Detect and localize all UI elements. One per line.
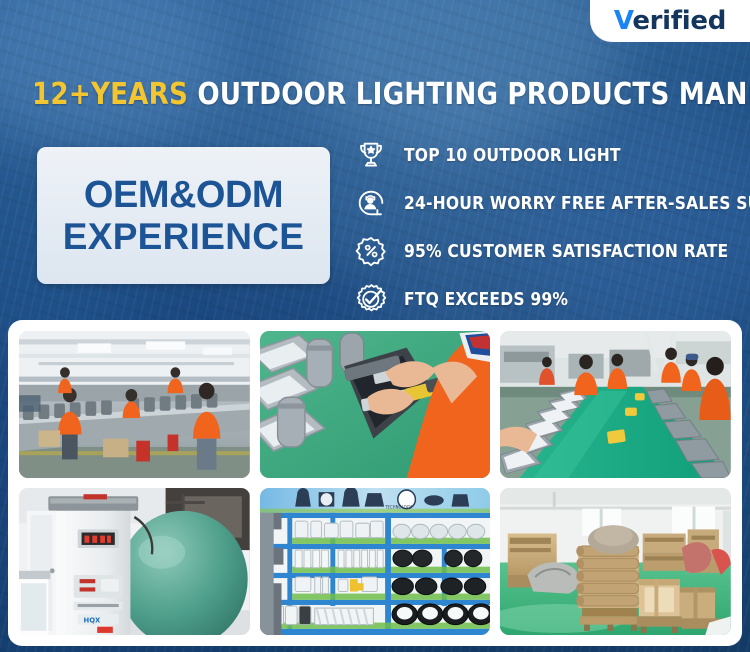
check-gear-icon bbox=[352, 280, 390, 318]
gallery-photo-integrating-sphere-lab[interactable]: Photometric testing lab with integrating… bbox=[19, 488, 250, 635]
feature-list: TOP 10 OUTDOOR LIGHT 24-HOUR WORRY FREE … bbox=[352, 131, 742, 323]
gallery-photo-alt-5: Showroom shelves displaying lighting pro… bbox=[260, 488, 261, 489]
gallery-photo-lamp-assembly-closeup[interactable]: Worker assembling street light housings … bbox=[260, 331, 491, 478]
feature-label-top-10: TOP 10 OUTDOOR LIGHT bbox=[404, 145, 621, 166]
gallery-photo-alt-6: Warehouse with stacked cardboard cartons… bbox=[500, 488, 501, 489]
support-headset-icon bbox=[352, 184, 390, 222]
oem-odm-line-2: EXPERIENCE bbox=[63, 216, 305, 257]
gallery-photo-alt-2: Worker assembling street light housings … bbox=[260, 331, 261, 332]
gallery-photo-conveyor-street-lights[interactable]: Conveyor belt lined with LED street ligh… bbox=[500, 331, 731, 478]
svg-text:HQX: HQX bbox=[84, 615, 101, 624]
background-glow-1 bbox=[0, 0, 220, 150]
background-glow-2 bbox=[300, 0, 620, 150]
gallery-photo-alt-1: Factory assembly line with workers in or… bbox=[19, 331, 20, 332]
percent-badge-icon bbox=[352, 232, 390, 270]
gallery-photo-assembly-line-workers[interactable]: Factory assembly line with workers in or… bbox=[19, 331, 250, 478]
feature-item-support: 24-HOUR WORRY FREE AFTER-SALES SUPPORT bbox=[352, 179, 742, 227]
company-banner: Verified 12+YEARS OUTDOOR LIGHTING PRODU… bbox=[0, 0, 750, 652]
verified-badge-rest: erified bbox=[632, 6, 726, 36]
gallery-photo-alt-3: Conveyor belt lined with LED street ligh… bbox=[500, 331, 501, 332]
verified-badge: Verified bbox=[590, 0, 750, 42]
oem-odm-line-1: OEM&ODM bbox=[84, 174, 283, 217]
verified-badge-label: Verified bbox=[614, 8, 726, 34]
feature-item-satisfaction: 95% CUSTOMER SATISFACTION RATE bbox=[352, 227, 742, 275]
feature-item-top-10: TOP 10 OUTDOOR LIGHT bbox=[352, 131, 742, 179]
gallery-photo-product-showroom-shelves[interactable]: Showroom shelves displaying lighting pro… bbox=[260, 488, 491, 635]
feature-item-ftq: FTQ EXCEEDS 99% bbox=[352, 275, 742, 323]
feature-label-support: 24-HOUR WORRY FREE AFTER-SALES SUPPORT bbox=[404, 193, 750, 214]
feature-label-ftq: FTQ EXCEEDS 99% bbox=[404, 289, 568, 310]
gallery-photo-packaging-warehouse[interactable]: Warehouse with stacked cardboard cartons… bbox=[500, 488, 731, 635]
oem-odm-callout: OEM&ODM EXPERIENCE bbox=[37, 147, 330, 284]
feature-label-satisfaction: 95% CUSTOMER SATISFACTION RATE bbox=[404, 241, 728, 262]
factory-photo-gallery: Factory assembly line with workers in or… bbox=[8, 320, 742, 646]
headline-accent: 12+YEARS bbox=[32, 77, 188, 112]
headline-rest: OUTDOOR LIGHTING PRODUCTS MANUFACTURER bbox=[188, 77, 750, 112]
trophy-star-icon bbox=[352, 136, 390, 174]
svg-text:TECHNOLOGY: TECHNOLOGY bbox=[384, 505, 412, 510]
verified-check-letter: V bbox=[614, 6, 632, 36]
page-title: 12+YEARS OUTDOOR LIGHTING PRODUCTS MANUF… bbox=[32, 80, 711, 110]
gallery-photo-alt-4: Photometric testing lab with integrating… bbox=[19, 488, 20, 489]
